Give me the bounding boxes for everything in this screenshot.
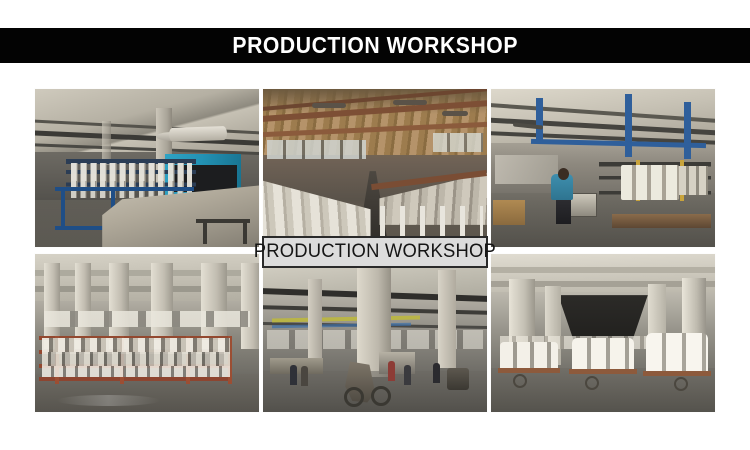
workshop-floor-photo xyxy=(263,254,487,412)
sanitaryware-carts-photo xyxy=(491,254,715,412)
cart-wheel xyxy=(585,376,599,390)
ceiling-fan xyxy=(393,100,427,105)
blue-steel-column xyxy=(536,98,543,139)
caption-overlay-box: PRODUCTION WORKSHOP xyxy=(262,236,488,268)
worker-figure xyxy=(301,366,308,386)
equipment-drum xyxy=(447,368,469,390)
gallery-photo-bottom-center[interactable] xyxy=(262,253,488,413)
cart-frame xyxy=(643,371,710,376)
ceramic-ware-row xyxy=(42,352,230,366)
cart-wheel xyxy=(371,386,391,406)
caption-label: PRODUCTION WORKSHOP xyxy=(254,241,496,263)
cart-frame xyxy=(569,369,636,374)
page-title: PRODUCTION WORKSHOP xyxy=(232,32,518,59)
plaster-mold-row xyxy=(263,165,371,247)
ceramic-ware-row xyxy=(646,333,709,371)
hand-cart xyxy=(569,193,597,217)
ceramic-ware-row xyxy=(572,338,635,370)
floor-reflection xyxy=(57,395,160,406)
pillar xyxy=(438,270,456,368)
factory-dryer-line-photo xyxy=(35,89,259,247)
background-window-band xyxy=(44,311,250,327)
gallery-photo-bottom-right[interactable] xyxy=(490,253,716,413)
shelf-bar xyxy=(39,377,232,381)
gallery-photo-top-center[interactable] xyxy=(262,88,488,248)
overhead-pipe xyxy=(272,316,420,323)
worker-legs xyxy=(556,200,571,224)
worker-with-cart-photo xyxy=(491,89,715,247)
work-table xyxy=(196,219,250,244)
gallery-photo-top-left[interactable] xyxy=(34,88,260,248)
ceiling-beam xyxy=(491,267,715,273)
ceramic-ware-row xyxy=(500,342,558,367)
window-band xyxy=(267,140,366,159)
pillar xyxy=(241,263,259,348)
blue-steel-column xyxy=(625,94,632,157)
ceramic-ware-row xyxy=(621,165,679,200)
background-machinery xyxy=(495,155,558,183)
ceramic-ware-row xyxy=(42,366,230,377)
ceiling-fan xyxy=(442,111,468,116)
window-band xyxy=(433,133,482,152)
casting-hall-photo xyxy=(263,89,487,247)
gallery-photo-bottom-left[interactable] xyxy=(34,253,260,413)
page-title-banner: PRODUCTION WORKSHOP xyxy=(0,28,750,63)
stacked-boxes xyxy=(493,200,524,225)
air-duct xyxy=(169,126,228,142)
ceiling-fan xyxy=(312,103,346,108)
transport-cart xyxy=(612,214,711,228)
gallery-photo-top-right[interactable] xyxy=(490,88,716,248)
pillar xyxy=(308,279,322,358)
cart-wheel xyxy=(344,387,364,407)
worker-figure xyxy=(388,361,395,381)
worker-figure xyxy=(290,365,297,385)
shelving-warehouse-photo xyxy=(35,254,259,412)
blue-steel-column xyxy=(684,102,691,159)
worker-figure xyxy=(433,363,440,383)
worker-figure xyxy=(404,365,411,385)
ceramic-ware-row xyxy=(679,166,708,194)
cart-frame xyxy=(498,368,561,373)
